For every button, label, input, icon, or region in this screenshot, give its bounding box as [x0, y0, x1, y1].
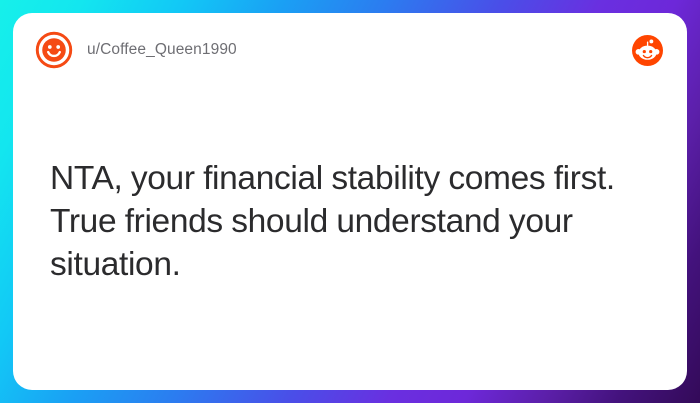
reddit-snoo-logo-icon	[632, 35, 663, 66]
reddit-comment-card: u/Coffee_Queen1990	[13, 13, 687, 390]
username-label: u/Coffee_Queen1990	[87, 41, 237, 59]
card-body: NTA, your financial stability comes firs…	[13, 87, 687, 390]
smiley-face-avatar-icon	[35, 31, 73, 69]
gradient-background: u/Coffee_Queen1990	[0, 0, 700, 403]
card-header: u/Coffee_Queen1990	[13, 13, 687, 87]
comment-text: NTA, your financial stability comes firs…	[50, 157, 653, 286]
